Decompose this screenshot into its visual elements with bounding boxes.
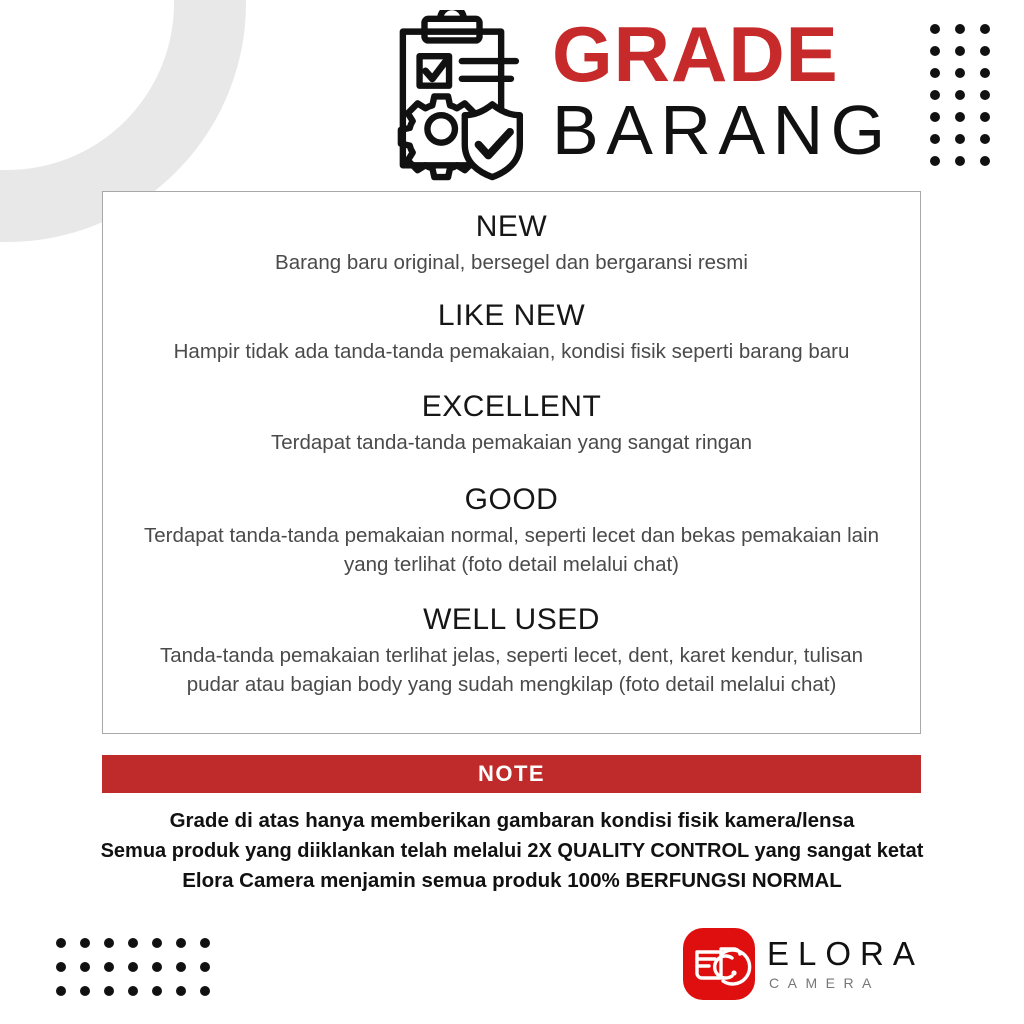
poster-header: GRADE BARANG bbox=[0, 0, 1024, 192]
grade-item-like-new: LIKE NEW Hampir tidak ada tanda-tanda pe… bbox=[127, 297, 896, 366]
grade-item-excellent: EXCELLENT Terdapat tanda-tanda pemakaian… bbox=[127, 388, 896, 457]
grade-description: Barang baru original, bersegel dan berga… bbox=[127, 248, 896, 277]
grade-title: WELL USED bbox=[127, 601, 896, 639]
dot bbox=[56, 938, 66, 948]
dot bbox=[200, 962, 210, 972]
note-bar-label: NOTE bbox=[478, 761, 545, 787]
grade-description: Hampir tidak ada tanda-tanda pemakaian, … bbox=[127, 337, 896, 366]
note-text-block: Grade di atas hanya memberikan gambaran … bbox=[62, 806, 962, 896]
dot bbox=[104, 962, 114, 972]
dot bbox=[200, 938, 210, 948]
note-bar: NOTE bbox=[102, 755, 921, 793]
grade-title: EXCELLENT bbox=[127, 388, 896, 426]
grade-description: Terdapat tanda-tanda pemakaian yang sang… bbox=[127, 428, 896, 457]
dot bbox=[930, 112, 940, 122]
dot bbox=[955, 68, 965, 78]
brand-name: ELORA bbox=[767, 937, 924, 971]
dot bbox=[56, 986, 66, 996]
title-barang: BARANG bbox=[552, 94, 912, 166]
brand-tagline: CAMERA bbox=[769, 974, 924, 992]
brand-logo: ELORA CAMERA bbox=[683, 926, 939, 1002]
title-grade: GRADE bbox=[552, 14, 912, 94]
clipboard-check-gear-shield-icon bbox=[368, 10, 536, 182]
grade-list-box: NEW Barang baru original, bersegel dan b… bbox=[102, 191, 921, 734]
dot bbox=[930, 156, 940, 166]
dot bbox=[56, 962, 66, 972]
dot bbox=[980, 68, 990, 78]
dot bbox=[128, 986, 138, 996]
dot bbox=[152, 962, 162, 972]
dot bbox=[80, 986, 90, 996]
dot bbox=[128, 962, 138, 972]
grade-title: LIKE NEW bbox=[127, 297, 896, 335]
note-line: Semua produk yang diiklankan telah melal… bbox=[62, 836, 962, 866]
dot bbox=[930, 46, 940, 56]
grade-title: NEW bbox=[127, 208, 896, 246]
dot bbox=[955, 134, 965, 144]
poster-canvas: GRADE BARANG NEW Barang baru original, b… bbox=[0, 0, 1024, 1024]
dot bbox=[955, 112, 965, 122]
dot bbox=[980, 90, 990, 100]
dot bbox=[955, 46, 965, 56]
grade-description: Tanda-tanda pemakaian terlihat jelas, se… bbox=[142, 641, 882, 699]
brand-wordmark: ELORA CAMERA bbox=[767, 937, 924, 992]
dot bbox=[980, 112, 990, 122]
dot bbox=[955, 90, 965, 100]
dot bbox=[80, 962, 90, 972]
dot bbox=[200, 986, 210, 996]
dot bbox=[176, 938, 186, 948]
dot-grid-bottom-left bbox=[56, 938, 224, 1010]
grade-item-good: GOOD Terdapat tanda-tanda pemakaian norm… bbox=[127, 481, 896, 579]
grade-description: Terdapat tanda-tanda pemakaian normal, s… bbox=[142, 521, 882, 579]
dot bbox=[176, 962, 186, 972]
dot bbox=[930, 68, 940, 78]
dot bbox=[980, 24, 990, 34]
dot bbox=[80, 938, 90, 948]
note-line: Grade di atas hanya memberikan gambaran … bbox=[62, 806, 962, 836]
dot bbox=[930, 24, 940, 34]
dot bbox=[980, 134, 990, 144]
elora-camera-fc-mark-icon bbox=[683, 928, 755, 1000]
lens-dot bbox=[731, 970, 736, 975]
dot bbox=[104, 986, 114, 996]
note-line: Elora Camera menjamin semua produk 100% … bbox=[62, 866, 962, 896]
grade-item-well-used: WELL USED Tanda-tanda pemakaian terlihat… bbox=[127, 601, 896, 699]
dot bbox=[128, 938, 138, 948]
dot bbox=[930, 134, 940, 144]
dot bbox=[955, 24, 965, 34]
grade-item-new: NEW Barang baru original, bersegel dan b… bbox=[127, 208, 896, 277]
dot bbox=[980, 156, 990, 166]
dot-grid-top-right bbox=[930, 24, 1005, 178]
dot bbox=[104, 938, 114, 948]
poster-title: GRADE BARANG bbox=[552, 14, 912, 179]
grade-title: GOOD bbox=[127, 481, 896, 519]
dot bbox=[176, 986, 186, 996]
dot bbox=[930, 90, 940, 100]
dot bbox=[152, 938, 162, 948]
dot bbox=[980, 46, 990, 56]
dot bbox=[152, 986, 162, 996]
dot bbox=[955, 156, 965, 166]
